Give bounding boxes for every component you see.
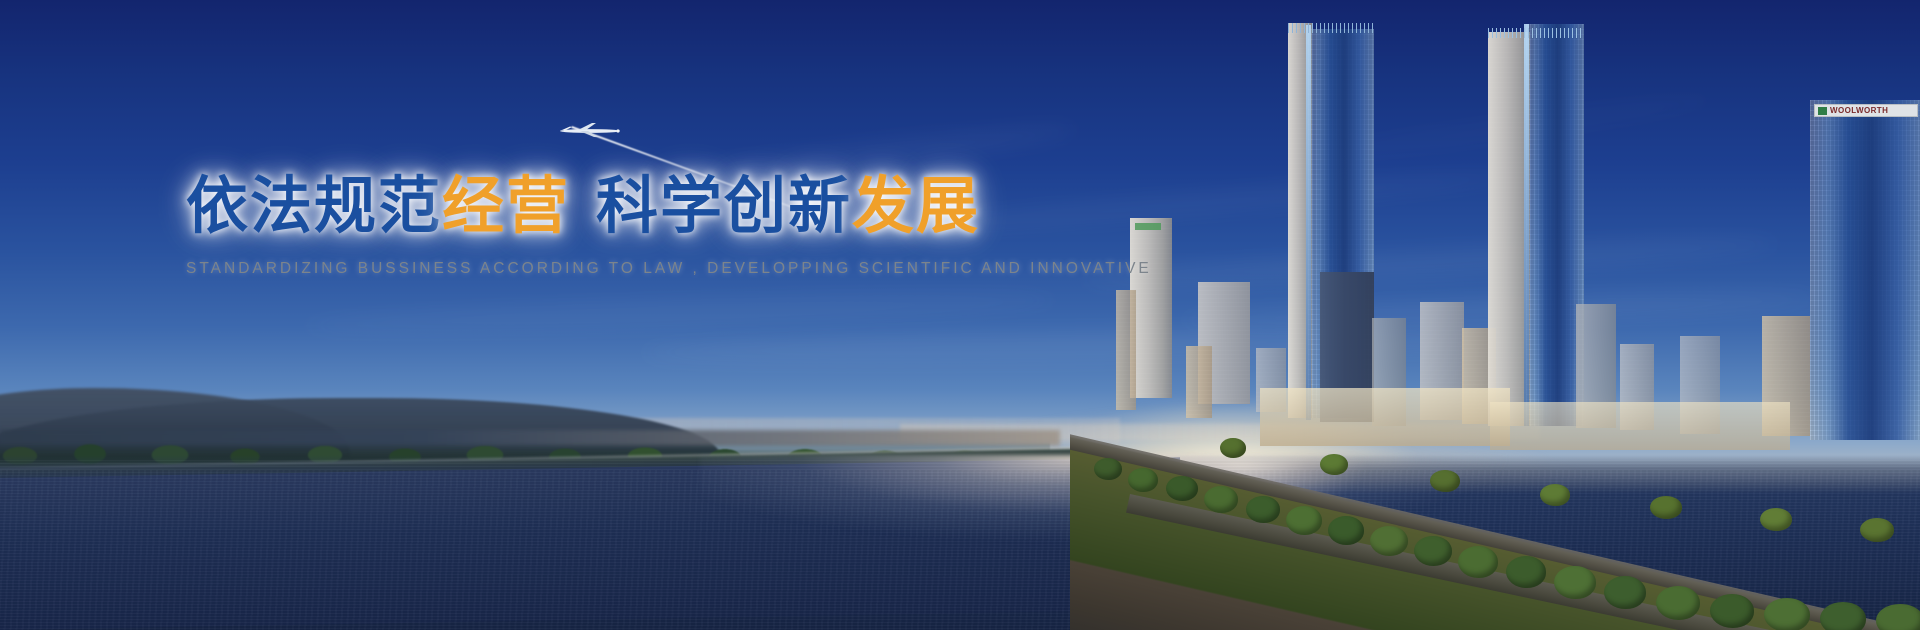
tree	[1166, 476, 1198, 501]
headline-segment-3: 科学创新	[596, 172, 852, 241]
rooftop-sign	[1135, 223, 1161, 230]
headline: 依法规范经营科学创新发展	[186, 176, 1006, 238]
tree-row	[1070, 398, 1920, 630]
tree	[1604, 576, 1646, 609]
tree	[1506, 556, 1546, 588]
tree	[1094, 458, 1122, 480]
glass-tower-right	[1488, 24, 1584, 426]
headline-segment-1: 依法规范	[186, 172, 442, 241]
tree	[1370, 526, 1408, 556]
tree	[1430, 470, 1460, 492]
tree	[1760, 508, 1792, 531]
subtitle: STANDARDIZING BUSSINESS ACCORDING TO LAW…	[186, 260, 1006, 278]
tree	[1246, 496, 1280, 523]
banner-text-block: 依法规范经营科学创新发展 STANDARDIZING BUSSINESS ACC…	[186, 176, 1006, 278]
right-waterfront	[1070, 398, 1920, 630]
tree	[1820, 602, 1866, 630]
tree	[1458, 546, 1498, 578]
tree	[1220, 438, 1246, 458]
tree	[1128, 468, 1158, 492]
woolworth-logo-icon	[1818, 107, 1827, 115]
tree	[1328, 516, 1364, 545]
tree	[1204, 486, 1238, 513]
headline-segment-4: 发展	[852, 172, 980, 241]
airplane-silhouette	[558, 122, 622, 138]
tree	[1860, 518, 1894, 542]
tree	[1554, 566, 1596, 599]
banner-image: WOOLWORTH	[0, 0, 1920, 630]
woolworth-sign: WOOLWORTH	[1814, 104, 1918, 117]
tree	[1286, 506, 1322, 535]
headline-segment-2: 经营	[442, 172, 570, 241]
tree	[1320, 454, 1348, 475]
building	[1116, 290, 1136, 410]
tree	[1656, 586, 1700, 620]
woolworth-sign-text: WOOLWORTH	[1830, 106, 1888, 115]
tree	[1764, 598, 1810, 630]
building	[1130, 218, 1172, 398]
tree	[1540, 484, 1570, 506]
tree	[1414, 536, 1452, 566]
woolworth-tower: WOOLWORTH	[1810, 100, 1920, 440]
tree	[1710, 594, 1754, 628]
tree	[1876, 604, 1920, 630]
tree	[1650, 496, 1682, 519]
